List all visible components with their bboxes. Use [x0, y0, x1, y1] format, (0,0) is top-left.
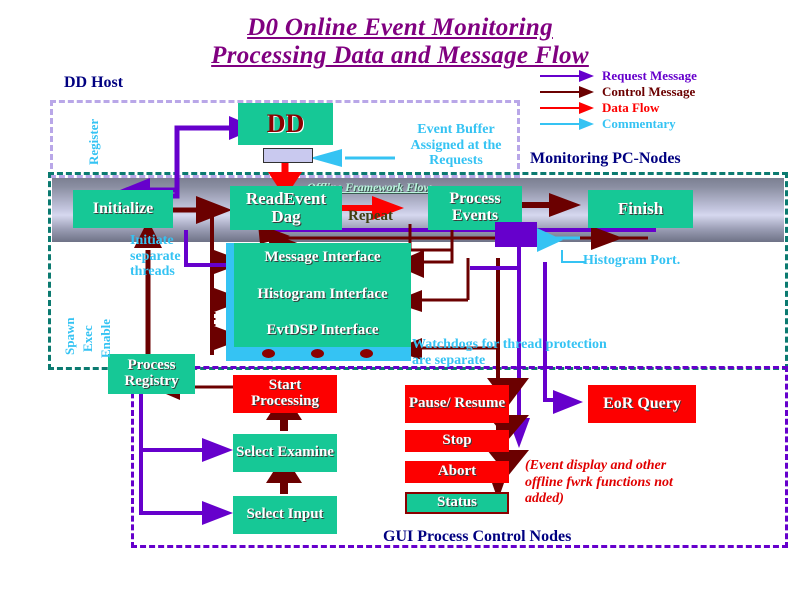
legend-row-commentary: Commentary [540, 116, 795, 131]
node-eor-query[interactable]: EoR Query [588, 385, 696, 423]
legend-arrow-commentary [579, 118, 594, 130]
node-finish[interactable]: Finish [588, 190, 693, 228]
annotation-event-buffer: Event Buffer Assigned at the Requests [392, 122, 520, 169]
annotation-histogram-port: Histogram Port. [583, 253, 680, 269]
monitoring-pc-nodes-label: Monitoring PC-Nodes [530, 150, 681, 168]
interface-inner-panel: Message Interface Histogram Interface Ev… [234, 243, 411, 347]
node-initialize[interactable]: Initialize [73, 190, 173, 228]
legend: Request Message Control Message Data Flo… [540, 68, 795, 132]
page-title-line2: Processing Data and Message Flow [0, 42, 800, 70]
repeat-label: Repeat [348, 208, 393, 225]
node-start-processing[interactable]: Start Processing [233, 375, 337, 413]
legend-label-commentary: Commentary [602, 116, 676, 132]
node-readevent-dag[interactable]: ReadEvent Dag [230, 186, 342, 230]
legend-row-request: Request Message [540, 68, 795, 83]
legend-line-data [540, 107, 580, 109]
interface-histogram-label[interactable]: Histogram Interface [234, 287, 411, 303]
annotation-spawn-vertical: Spawn [62, 317, 78, 355]
interface-dot-3 [360, 349, 373, 358]
legend-line-commentary [540, 123, 580, 125]
page-title-line1: D0 Online Event Monitoring [0, 14, 800, 42]
annotation-watchdogs: Watchdogs for thread protection are sepa… [412, 337, 612, 368]
interface-message-label[interactable]: Message Interface [234, 250, 411, 266]
legend-label-data: Data Flow [602, 100, 659, 116]
annotation-register-vertical: Register [86, 119, 102, 165]
legend-row-data: Data Flow [540, 100, 795, 115]
dd-host-label: DD Host [64, 74, 123, 92]
legend-arrow-data [579, 102, 594, 114]
node-stop[interactable]: Stop [405, 430, 509, 452]
legend-line-request [540, 75, 580, 77]
node-status[interactable]: Status [405, 492, 509, 514]
node-process-registry[interactable]: Process Registry [108, 354, 195, 394]
legend-row-control: Control Message [540, 84, 795, 99]
node-dd[interactable]: DD [238, 103, 333, 145]
node-select-input[interactable]: Select Input [233, 496, 337, 534]
annotation-exec-vertical: Exec [80, 325, 96, 352]
legend-label-control: Control Message [602, 84, 695, 100]
legend-label-request: Request Message [602, 68, 697, 84]
annotation-offline-note: (Event display and other offline fwrk fu… [525, 458, 705, 508]
event-buffer-bar [263, 148, 313, 163]
node-abort[interactable]: Abort [405, 461, 509, 483]
interface-evtdsp-label[interactable]: EvtDSP Interface [234, 323, 411, 339]
annotation-initiate-threads: Initiate separate threads [130, 233, 216, 280]
histogram-port-block[interactable] [495, 222, 537, 247]
interface-dot-2 [311, 349, 324, 358]
interface-dot-1 [262, 349, 275, 358]
legend-arrow-control [579, 86, 594, 98]
legend-arrow-request [579, 70, 594, 82]
legend-line-control [540, 91, 580, 93]
annotation-enable-vertical: Enable [98, 319, 114, 358]
node-pause-resume[interactable]: Pause/ Resume [405, 385, 509, 423]
node-select-examine[interactable]: Select Examine [233, 434, 337, 472]
